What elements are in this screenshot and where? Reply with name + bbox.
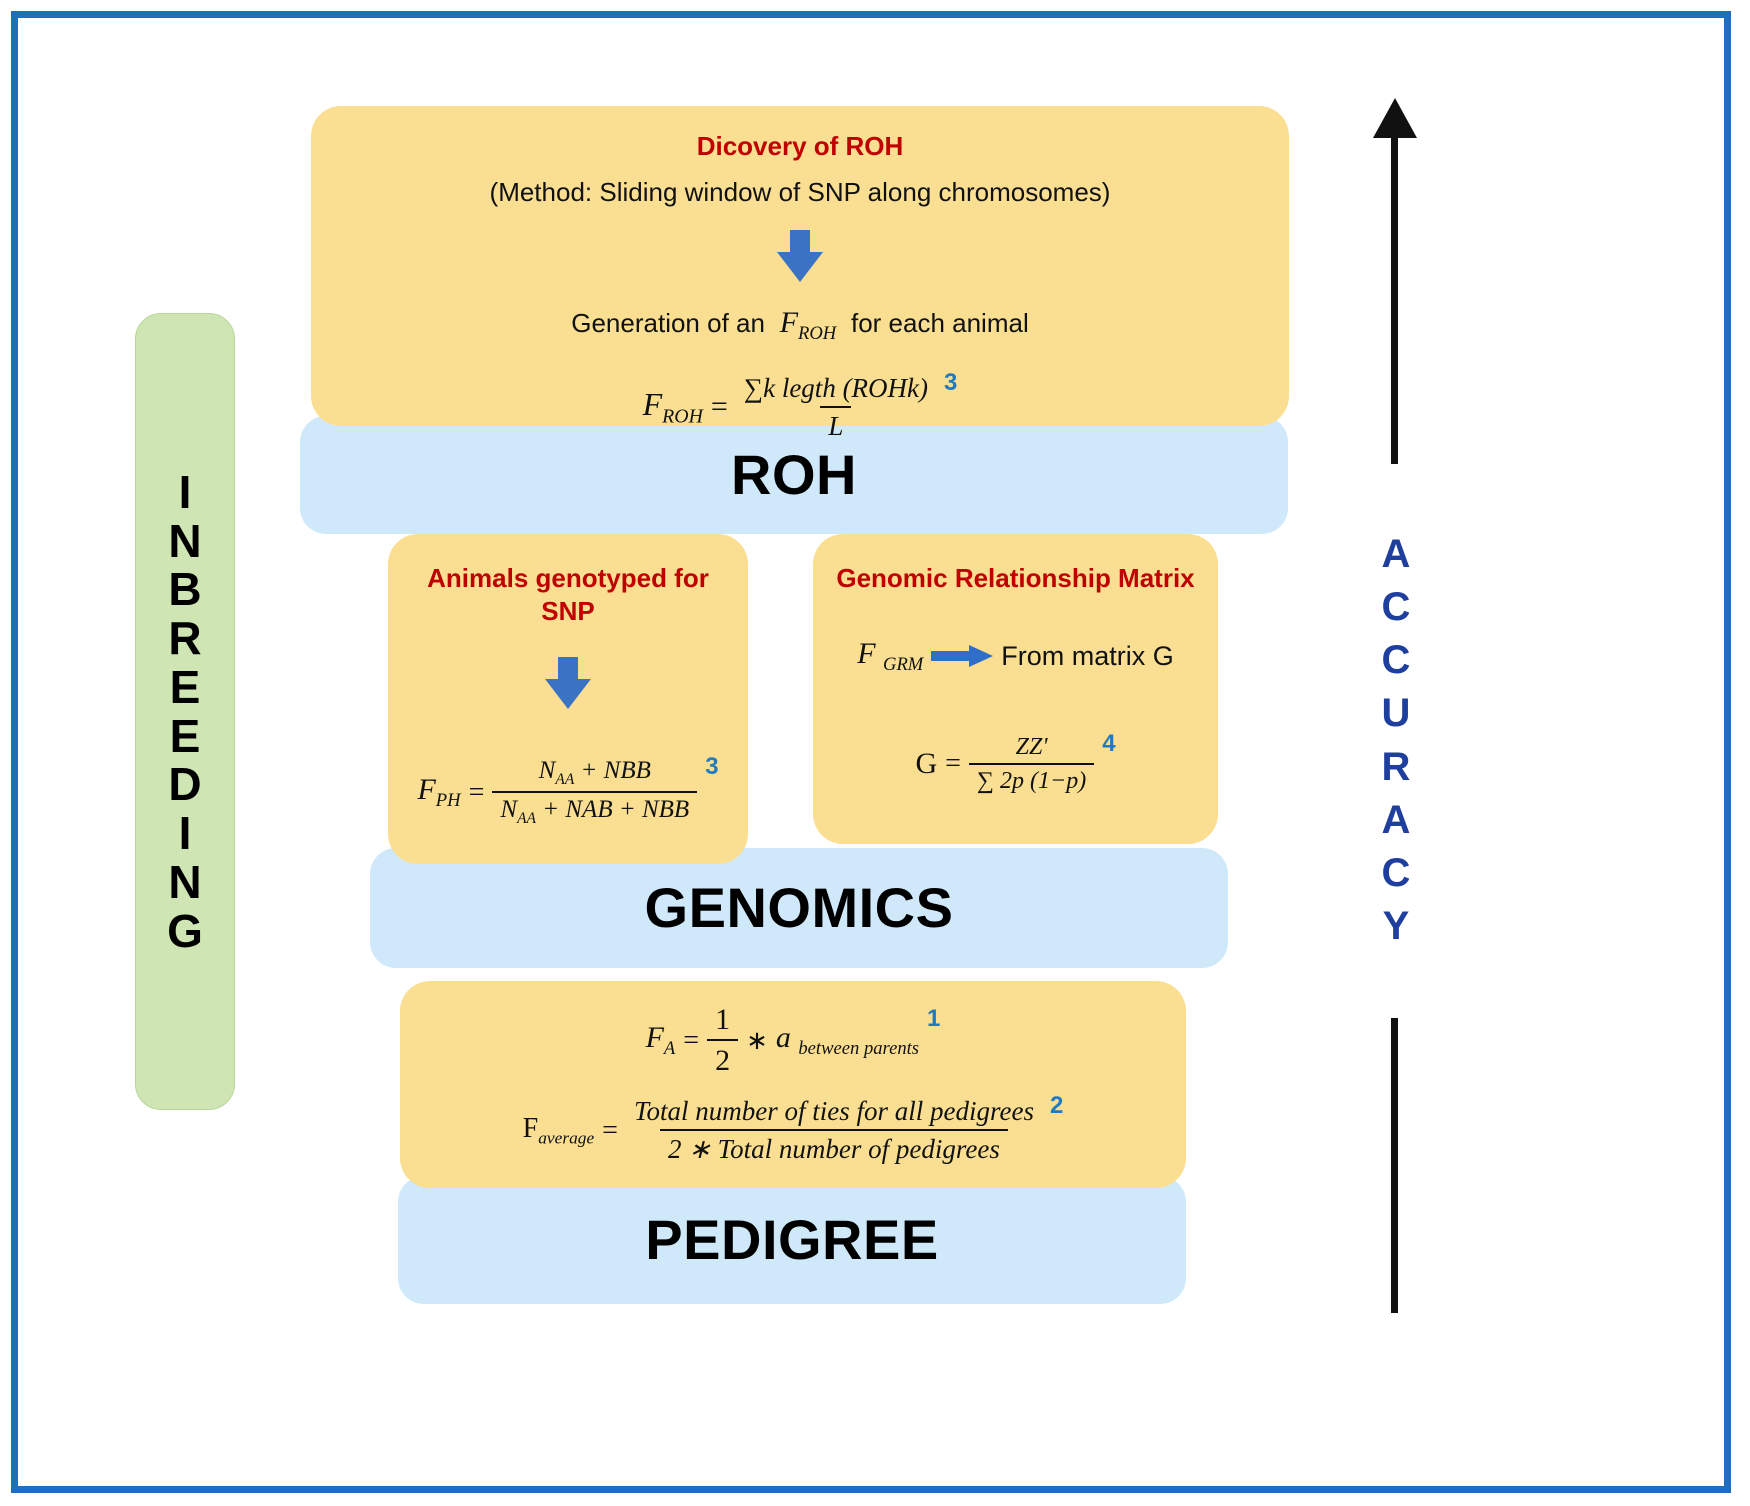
accuracy-letter: C <box>1382 847 1411 900</box>
accuracy-letter: C <box>1382 581 1411 634</box>
f-roh-numerator: ∑k legth (ROHk) <box>736 373 936 406</box>
accuracy-letter: A <box>1382 528 1411 581</box>
roh-step-tail: for each animal <box>851 308 1029 338</box>
f-ph-lhs: F <box>417 773 435 806</box>
f-roh-lhs: F <box>643 386 663 422</box>
g-reference: 4 <box>1102 730 1115 758</box>
card-roh: Dicovery of ROH (Method: Sliding window … <box>311 106 1289 426</box>
accuracy-arrow-up-icon <box>1373 98 1417 138</box>
inbreeding-letter: N <box>168 858 201 907</box>
f-a-equals: = <box>683 1025 699 1057</box>
card-pedigree: FA = 1 2 ∗ a between parents 1 Faverage … <box>400 981 1186 1188</box>
roh-step-text: Generation of an <box>571 308 765 338</box>
formula-f-ph: FPH = NAA + NBB NAA + NAB + NBB 3 <box>414 757 722 828</box>
f-ph-denominator: NAA + NAB + NBB <box>492 791 697 828</box>
f-avg-reference: 2 <box>1050 1092 1063 1120</box>
inbreeding-axis-letters: I N B R E E D I N G <box>167 468 203 956</box>
f-grm-symbol-sub: GRM <box>883 654 923 675</box>
inbreeding-letter: B <box>168 565 201 614</box>
band-pedigree: PEDIGREE <box>398 1176 1186 1304</box>
f-avg-denominator: 2 ∗ Total number of pedigrees <box>660 1129 1008 1165</box>
f-ph-equals: = <box>469 777 485 809</box>
f-a-term-sub: between parents <box>798 1038 919 1059</box>
f-avg-lhs-sub: average <box>538 1128 594 1147</box>
inbreeding-axis-bar: I N B R E E D I N G <box>135 313 235 1110</box>
grm-title: Genomic Relationship Matrix <box>831 562 1200 595</box>
accuracy-letter: A <box>1382 794 1411 847</box>
f-grm-symbol: F <box>857 637 875 670</box>
f-ph-lhs-sub: PH <box>436 790 461 811</box>
f-a-lhs-sub: A <box>664 1038 675 1059</box>
f-avg-numerator: Total number of ties for all pedigrees <box>626 1096 1042 1129</box>
inbreeding-letter: D <box>168 760 201 809</box>
accuracy-letter: U <box>1382 687 1411 740</box>
band-pedigree-label: PEDIGREE <box>645 1207 938 1274</box>
roh-step: Generation of an FROH for each animal <box>311 306 1289 345</box>
card-grm: Genomic Relationship Matrix F GRM From m… <box>813 534 1218 844</box>
formula-f-roh: FROH = ∑k legth (ROHk) L 3 <box>311 373 1289 442</box>
formula-g-matrix: G = ZZ' ∑ 2p (1−p) 4 <box>831 734 1200 795</box>
band-genomics-label: GENOMICS <box>645 875 954 942</box>
f-roh-lhs-sub: ROH <box>662 405 703 427</box>
g-equals: = <box>945 748 961 780</box>
inbreeding-letter: R <box>168 614 201 663</box>
roh-title: Dicovery of ROH <box>311 130 1289 163</box>
f-a-numerator: 1 <box>707 1003 738 1039</box>
inbreeding-letter: I <box>179 809 192 858</box>
g-denominator: ∑ 2p (1−p) <box>969 763 1094 795</box>
inbreeding-letter: I <box>179 468 192 517</box>
accuracy-axis-letters: A C C U R A C Y <box>1348 468 1444 1013</box>
roh-step-symbol-sub: ROH <box>798 323 836 344</box>
f-avg-equals: = <box>602 1115 618 1147</box>
f-a-reference: 1 <box>927 1005 940 1033</box>
snp-title: Animals genotyped for SNP <box>414 562 722 627</box>
down-arrow-icon <box>545 657 591 709</box>
band-genomics: GENOMICS <box>370 848 1228 968</box>
f-a-operator: ∗ <box>746 1026 768 1056</box>
f-roh-equals: = <box>711 390 728 424</box>
accuracy-axis-line-bottom <box>1391 1018 1398 1313</box>
f-ph-numerator: NAA + NBB <box>531 757 659 791</box>
f-a-term: a <box>776 1021 791 1054</box>
formula-f-a: FA = 1 2 ∗ a between parents 1 <box>400 1003 1186 1078</box>
down-arrow-icon <box>777 230 823 282</box>
accuracy-axis-line-top <box>1391 134 1398 464</box>
inbreeding-letter: E <box>170 663 201 712</box>
accuracy-letter: Y <box>1383 900 1410 953</box>
card-snp: Animals genotyped for SNP FPH = NAA + NB… <box>388 534 748 864</box>
roh-step-symbol: F <box>780 306 798 339</box>
inbreeding-letter: E <box>170 712 201 761</box>
grm-symbol-row: F GRM From matrix G <box>831 637 1200 676</box>
accuracy-letter: C <box>1382 634 1411 687</box>
g-numerator: ZZ' <box>1008 734 1056 763</box>
f-ph-reference: 3 <box>705 753 718 781</box>
f-a-denominator: 2 <box>707 1039 738 1078</box>
accuracy-letter: R <box>1382 741 1411 794</box>
band-roh-label: ROH <box>731 442 857 509</box>
g-lhs: G <box>915 747 937 781</box>
grm-arrow-target: From matrix G <box>1001 641 1174 672</box>
figure-frame: I N B R E E D I N G ROH Dicovery of ROH … <box>11 11 1731 1493</box>
roh-method: (Method: Sliding window of SNP along chr… <box>311 177 1289 208</box>
formula-f-average: Faverage = Total number of ties for all … <box>400 1096 1186 1165</box>
inbreeding-letter: G <box>167 907 203 956</box>
right-arrow-icon <box>931 645 993 667</box>
f-roh-reference: 3 <box>944 369 957 397</box>
inbreeding-letter: N <box>168 517 201 566</box>
f-a-lhs: F <box>646 1021 664 1054</box>
f-avg-lhs: F <box>523 1113 539 1144</box>
f-roh-denominator: L <box>820 406 851 442</box>
